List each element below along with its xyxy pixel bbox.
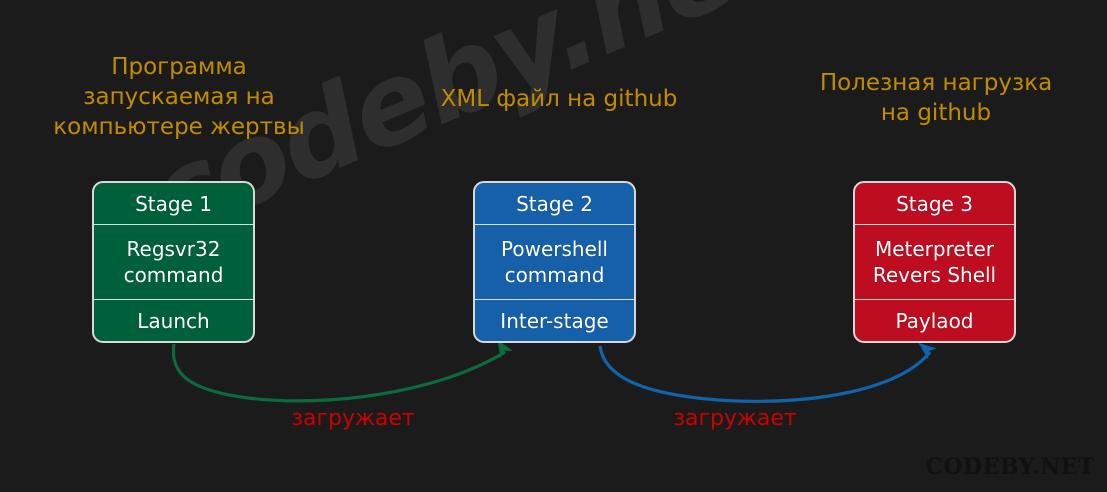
title-victim-program: Программа запускаемая на компьютере жерт… xyxy=(46,52,312,142)
stage-2-header: Stage 2 xyxy=(475,183,634,224)
title-xml-file: XML файл на github xyxy=(404,84,714,114)
stage-2-footer: Inter-stage xyxy=(475,300,634,341)
arrow-label-stage1-to-stage2: загружает xyxy=(228,406,478,431)
stage-3-footer: Paylaod xyxy=(855,300,1014,341)
stage-2-body-label: Powershell command xyxy=(501,236,608,288)
stage-node-3[interactable]: Stage 3 Meterpreter Revers Shell Paylaod xyxy=(853,181,1016,343)
stage-3-body: Meterpreter Revers Shell xyxy=(855,224,1014,300)
watermark-corner: CODEBY.NET xyxy=(925,454,1095,480)
stage-1-body-label: Regsvr32 command xyxy=(124,236,224,288)
arrow-stage2-to-stage3-path xyxy=(600,346,930,401)
arrow-label-stage2-to-stage3: загружает xyxy=(610,406,860,431)
stage-2-body: Powershell command xyxy=(475,224,634,300)
stage-3-header: Stage 3 xyxy=(855,183,1014,224)
stage-3-footer-label: Paylaod xyxy=(896,308,974,334)
stage-3-header-label: Stage 3 xyxy=(896,191,973,217)
stage-3-body-label: Meterpreter Revers Shell xyxy=(873,236,996,288)
stage-1-footer-label: Launch xyxy=(137,308,209,334)
stage-2-footer-label: Inter-stage xyxy=(500,308,608,334)
stage-1-body: Regsvr32 command xyxy=(94,224,253,300)
stage-1-header: Stage 1 xyxy=(94,183,253,224)
stage-node-1[interactable]: Stage 1 Regsvr32 command Launch xyxy=(92,181,255,343)
arrow-stage1-to-stage2-path xyxy=(173,344,505,401)
stage-node-2[interactable]: Stage 2 Powershell command Inter-stage xyxy=(473,181,636,343)
stage-1-footer: Launch xyxy=(94,300,253,341)
diagram-canvas: codeby.net Программа запускаемая на комп… xyxy=(0,0,1107,492)
title-payload: Полезная нагрузка на github xyxy=(788,68,1084,128)
stage-2-header-label: Stage 2 xyxy=(516,191,593,217)
stage-1-header-label: Stage 1 xyxy=(135,191,212,217)
